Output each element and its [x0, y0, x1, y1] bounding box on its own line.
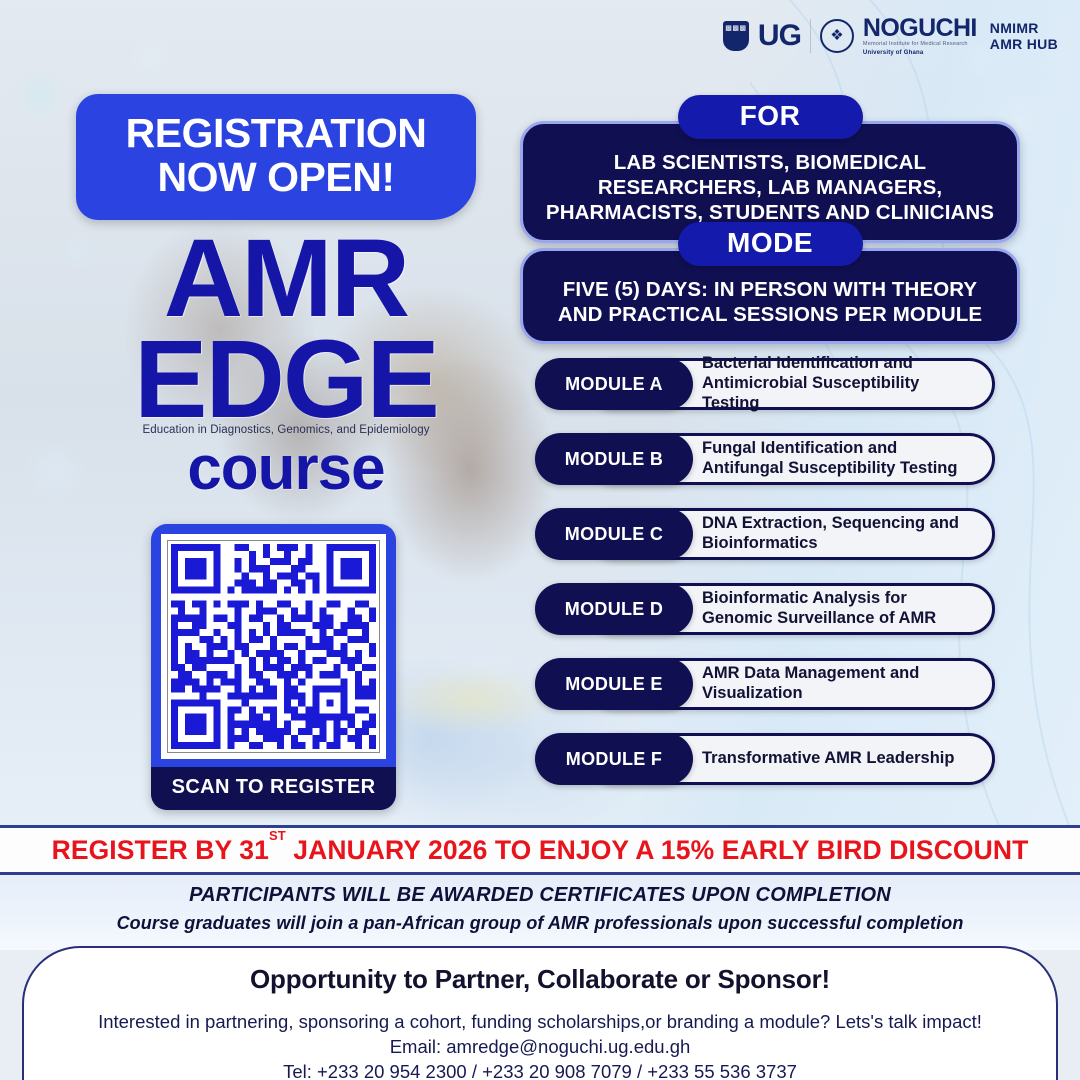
module-tag: MODULE B	[535, 433, 693, 485]
title-edge: EDGE	[76, 329, 496, 430]
title-amr: AMR	[76, 228, 496, 329]
amr-hub-line2: AMR HUB	[990, 36, 1058, 52]
scan-to-register-label: SCAN TO REGISTER	[151, 767, 396, 810]
registration-line1: REGISTRATION	[86, 112, 466, 156]
module-description: DNA Extraction, Sequencing and Bioinform…	[702, 514, 976, 554]
registration-open-banner: REGISTRATION NOW OPEN!	[76, 94, 476, 220]
noguchi-name: NOGUCHI	[863, 16, 977, 41]
section-mode: MODE FIVE (5) DAYS: IN PERSON WITH THEOR…	[520, 222, 1020, 344]
logo-divider	[810, 19, 811, 53]
module-row: Bacterial Identification and Antimicrobi…	[535, 358, 995, 410]
certificates-line1: PARTICIPANTS WILL BE AWARDED CERTIFICATE…	[0, 878, 1080, 907]
deadline-superscript: ST	[269, 828, 286, 843]
university-shield-icon: ▩▩▩	[723, 21, 749, 51]
noguchi-emblem-icon: ❖	[820, 19, 854, 53]
early-bird-banner: REGISTER BY 31ST JANUARY 2026 TO ENJOY A…	[0, 825, 1080, 875]
poster-root: ▩▩▩ UG ❖ NOGUCHI Memorial Institute for …	[0, 0, 1080, 1080]
noguchi-logo: NOGUCHI Memorial Institute for Medical R…	[863, 16, 977, 56]
module-row: Fungal Identification and Antifungal Sus…	[535, 433, 995, 485]
partnership-title: Opportunity to Partner, Collaborate or S…	[24, 964, 1056, 995]
certificates-line2: Course graduates will join a pan-African…	[0, 913, 1080, 934]
module-row: Bioinformatic Analysis for Genomic Surve…	[535, 583, 995, 635]
module-description: Bioinformatic Analysis for Genomic Surve…	[702, 589, 976, 629]
title-course: course	[76, 438, 496, 500]
ug-logo-label: UG	[758, 21, 801, 51]
module-tag: MODULE E	[535, 658, 693, 710]
early-bird-text: REGISTER BY 31ST JANUARY 2026 TO ENJOY A…	[52, 835, 1029, 866]
noguchi-subtitle: Memorial Institute for Medical Research	[863, 42, 977, 48]
qr-white-frame	[161, 534, 386, 759]
module-row: DNA Extraction, Sequencing and Bioinform…	[535, 508, 995, 560]
section-for: FOR LAB SCIENTISTS, BIOMEDICAL RESEARCHE…	[520, 95, 1020, 243]
section-for-heading: FOR	[678, 95, 863, 139]
qr-inner-frame	[167, 540, 380, 753]
registration-line2: NOW OPEN!	[86, 156, 466, 200]
certificates-zone: PARTICIPANTS WILL BE AWARDED CERTIFICATE…	[0, 878, 1080, 950]
partnership-email[interactable]: Email: amredge@noguchi.ug.edu.gh	[24, 1036, 1056, 1058]
partnership-line1: Interested in partnering, sponsoring a c…	[24, 1011, 1056, 1033]
module-tag: MODULE F	[535, 733, 693, 785]
module-tag: MODULE C	[535, 508, 693, 560]
module-description: Transformative AMR Leadership	[702, 749, 954, 769]
module-description: Fungal Identification and Antifungal Sus…	[702, 439, 976, 479]
module-description: Bacterial Identification and Antimicrobi…	[702, 354, 976, 413]
module-tag: MODULE D	[535, 583, 693, 635]
deadline-prefix: REGISTER BY 31	[52, 835, 269, 865]
partnership-phone[interactable]: Tel: +233 20 954 2300 / +233 20 908 7079…	[24, 1061, 1056, 1080]
amr-hub-line1: NMIMR	[990, 20, 1058, 36]
noguchi-university: University of Ghana	[863, 50, 977, 56]
module-tag: MODULE A	[535, 358, 693, 410]
course-title-block: AMR EDGE Education in Diagnostics, Genom…	[76, 228, 496, 500]
module-row: AMR Data Management and Visualization MO…	[535, 658, 995, 710]
section-mode-heading: MODE	[678, 222, 863, 266]
qr-card[interactable]: SCAN TO REGISTER	[151, 524, 396, 810]
modules-list: Bacterial Identification and Antimicrobi…	[535, 358, 995, 808]
deadline-suffix: JANUARY 2026 TO ENJOY A 15% EARLY BIRD D…	[286, 835, 1029, 865]
module-description: AMR Data Management and Visualization	[702, 664, 976, 704]
amr-hub-logo: NMIMR AMR HUB	[990, 20, 1058, 52]
partnership-card: Opportunity to Partner, Collaborate or S…	[22, 946, 1058, 1080]
qr-code-icon[interactable]	[171, 544, 376, 749]
logo-bar: ▩▩▩ UG ❖ NOGUCHI Memorial Institute for …	[723, 16, 1058, 56]
module-row: Transformative AMR Leadership MODULE F	[535, 733, 995, 785]
